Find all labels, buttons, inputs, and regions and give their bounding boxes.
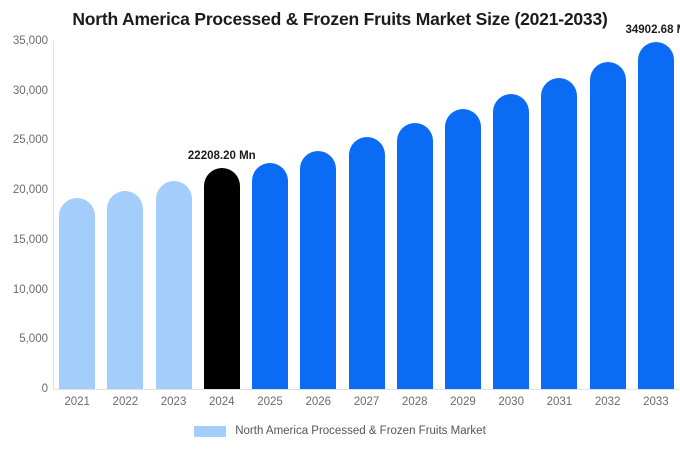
- y-axis-tick-label: 20,000: [13, 184, 48, 196]
- data-label-2024: 22208.20 Mn: [188, 150, 256, 162]
- bar-column[interactable]: [541, 41, 577, 389]
- bar-column[interactable]: [156, 41, 192, 389]
- y-axis-tick-label: 35,000: [13, 35, 48, 47]
- data-label-2033: 34902.68 M: [626, 24, 680, 36]
- chart-legend: North America Processed & Frozen Fruits …: [0, 425, 680, 437]
- x-axis-tick-label: 2023: [156, 396, 192, 408]
- y-axis: 05,00010,00015,00020,00025,00030,00035,0…: [0, 0, 48, 450]
- bar-column[interactable]: [493, 41, 529, 389]
- x-axis-tick-label: 2032: [590, 396, 626, 408]
- bar-column[interactable]: [397, 41, 433, 389]
- bar-2031[interactable]: [541, 78, 577, 389]
- chart-container: North America Processed & Frozen Fruits …: [0, 0, 680, 450]
- bar-column[interactable]: [300, 41, 336, 389]
- y-axis-tick-label: 25,000: [13, 134, 48, 146]
- y-axis-tick-label: 10,000: [13, 284, 48, 296]
- x-axis-tick-label: 2033: [638, 396, 674, 408]
- bar-column[interactable]: [638, 41, 674, 389]
- x-axis-tick-label: 2029: [445, 396, 481, 408]
- bar-column[interactable]: [349, 41, 385, 389]
- x-axis-tick-label: 2024: [204, 396, 240, 408]
- bar-column[interactable]: [59, 41, 95, 389]
- bar-2032[interactable]: [590, 62, 626, 389]
- legend-swatch[interactable]: [194, 426, 226, 437]
- x-axis-tick-label: 2026: [300, 396, 336, 408]
- bar-column[interactable]: [445, 41, 481, 389]
- y-axis-tick-label: 0: [42, 383, 48, 395]
- bar-column[interactable]: [590, 41, 626, 389]
- y-axis-tick-label: 5,000: [19, 333, 48, 345]
- x-axis-line: [53, 389, 680, 390]
- bar-2029[interactable]: [445, 109, 481, 389]
- legend-label[interactable]: North America Processed & Frozen Fruits …: [235, 425, 486, 437]
- x-axis-tick-label: 2031: [541, 396, 577, 408]
- chart-title: North America Processed & Frozen Fruits …: [0, 9, 680, 30]
- x-axis-tick-label: 2030: [493, 396, 529, 408]
- x-axis-tick-label: 2022: [107, 396, 143, 408]
- bar-2033[interactable]: [638, 42, 674, 389]
- bar-column[interactable]: [107, 41, 143, 389]
- x-axis-tick-label: 2025: [252, 396, 288, 408]
- bar-2028[interactable]: [397, 123, 433, 389]
- y-axis-tick-label: 15,000: [13, 234, 48, 246]
- bar-column[interactable]: [204, 41, 240, 389]
- bar-2027[interactable]: [349, 137, 385, 389]
- bar-2025[interactable]: [252, 163, 288, 389]
- bar-2022[interactable]: [107, 191, 143, 389]
- bar-2023[interactable]: [156, 181, 192, 389]
- bar-2024[interactable]: [204, 168, 240, 389]
- bar-2021[interactable]: [59, 198, 95, 389]
- bar-2030[interactable]: [493, 94, 529, 389]
- x-axis-tick-label: 2027: [349, 396, 385, 408]
- plot-area: [53, 41, 680, 389]
- x-axis-tick-label: 2021: [59, 396, 95, 408]
- bar-column[interactable]: [252, 41, 288, 389]
- x-axis-tick-label: 2028: [397, 396, 433, 408]
- bar-2026[interactable]: [300, 151, 336, 389]
- y-axis-tick-label: 30,000: [13, 85, 48, 97]
